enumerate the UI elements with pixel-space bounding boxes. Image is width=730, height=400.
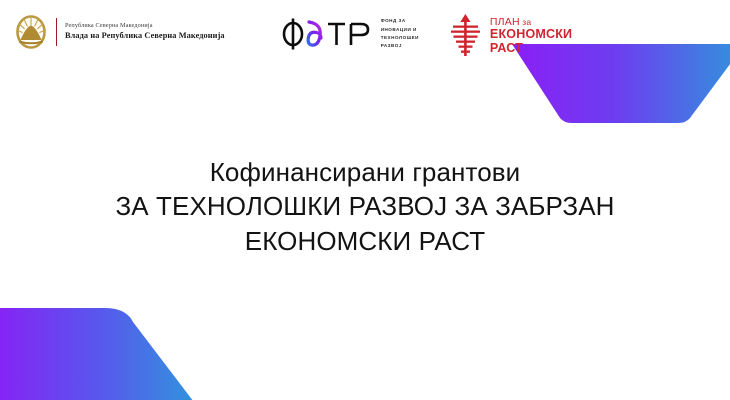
plan-word-plan: ПЛАН — [490, 16, 520, 28]
fitr-tagline-line-3: ТЕХНОЛОШКИ — [381, 34, 419, 42]
economic-growth-plan-logo-lockup: ПЛАН за ЕКОНОМСКИ РАСТ — [449, 14, 572, 58]
macedonia-state-emblem-icon — [14, 14, 48, 50]
presentation-slide: Република Северна Македонија Влада на Ре… — [0, 0, 730, 400]
fitr-tagline: ФОНД ЗА ИНОВАЦИИ И ТЕХНОЛОШКИ РАЗВОЈ — [381, 17, 419, 51]
plan-line-3: РАСТ — [490, 42, 572, 56]
slide-title-line-1: Кофинансирани грантови — [0, 155, 730, 189]
fitr-tagline-line-2: ИНОВАЦИИ И — [381, 26, 419, 34]
fitr-tagline-line-1: ФОНД ЗА — [381, 17, 419, 25]
government-body-label: Влада на Република Северна Македонија — [65, 31, 225, 41]
plan-text-block: ПЛАН за ЕКОНОМСКИ РАСТ — [490, 17, 572, 55]
slide-title-block: Кофинансирани грантови ЗА ТЕХНОЛОШКИ РАЗ… — [0, 155, 730, 258]
fitr-wordmark-icon — [281, 14, 373, 54]
economic-growth-arrow-icon — [449, 14, 483, 58]
plan-line-2: ЕКОНОМСКИ — [490, 28, 572, 42]
slide-title-line-3: ЕКОНОМСКИ РАСТ — [0, 224, 730, 258]
fitr-logo-lockup: ФОНД ЗА ИНОВАЦИИ И ТЕХНОЛОШКИ РАЗВОЈ — [281, 14, 419, 54]
plan-word-za: за — [520, 17, 532, 27]
government-logo-lockup: Република Северна Македонија Влада на Ре… — [14, 14, 225, 50]
bottom-left-gradient-shape — [0, 308, 200, 400]
fitr-tagline-line-4: РАЗВОЈ — [381, 42, 419, 50]
government-text-block: Република Северна Македонија Влада на Ре… — [65, 22, 225, 41]
slide-title-line-2: ЗА ТЕХНОЛОШКИ РАЗВОЈ ЗА ЗАБРЗАН — [0, 189, 730, 223]
government-country-label: Република Северна Македонија — [65, 22, 225, 30]
logo-header-bar: Република Северна Македонија Влада на Ре… — [0, 0, 730, 72]
lockup-divider — [56, 18, 57, 46]
